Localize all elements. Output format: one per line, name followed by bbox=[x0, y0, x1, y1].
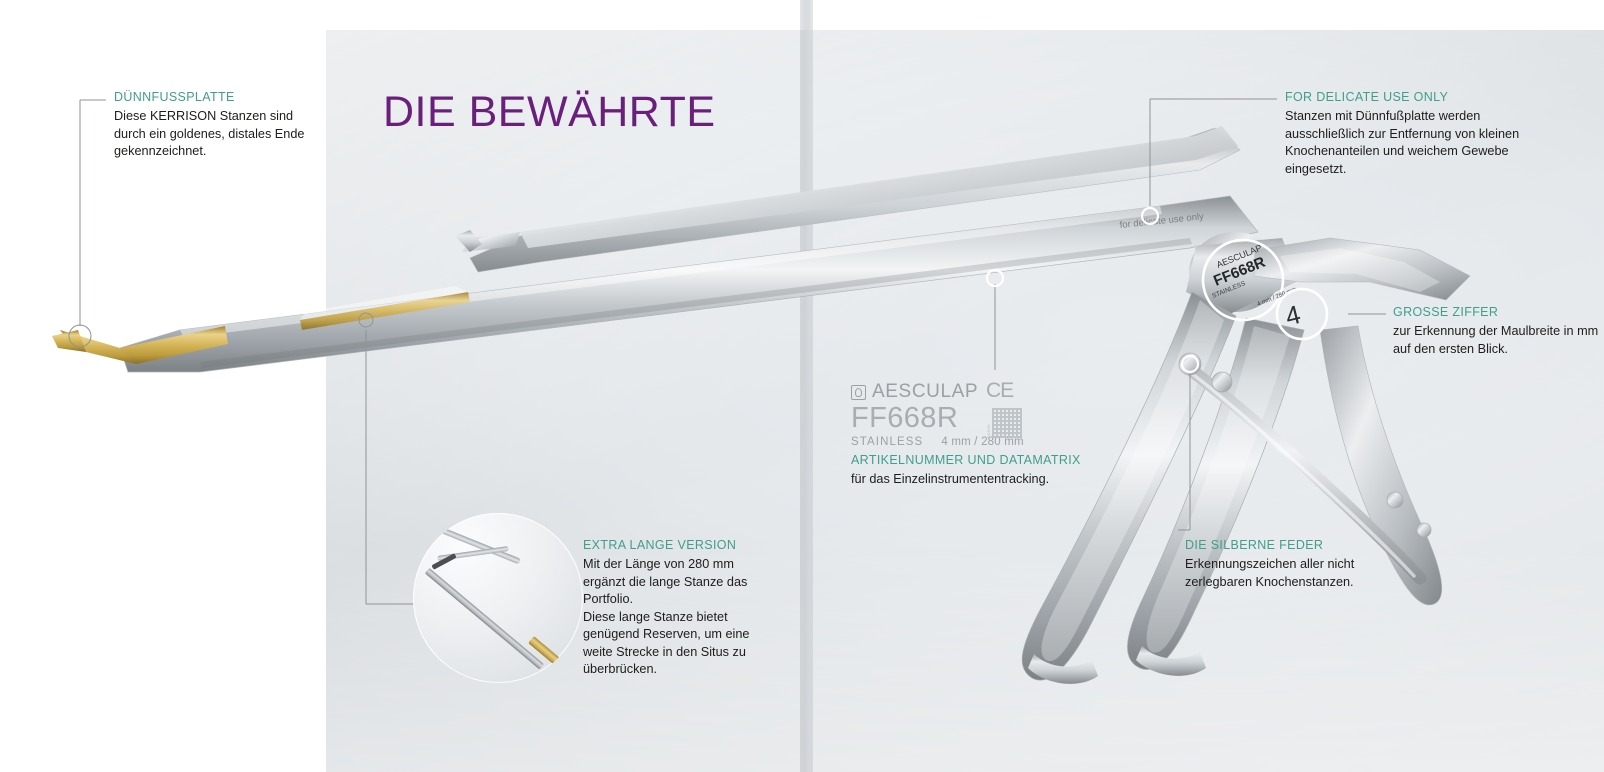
callout-artikelnummer-datamatrix: ARTIKELNUMMER UND DATAMATRIX für das Ein… bbox=[851, 453, 1081, 489]
callout-body: Erkennungszeichen aller nicht zerlegbare… bbox=[1185, 556, 1385, 591]
callout-die-silberne-feder: DIE SILBERNE FEDER Erkennungszeichen all… bbox=[1185, 538, 1385, 591]
callout-body: für das Einzelinstrumententracking. bbox=[851, 471, 1081, 489]
ce-mark: CE bbox=[986, 380, 1013, 402]
callout-title: EXTRA LANGE VERSION bbox=[583, 538, 758, 553]
page-title: DIE BEWÄHRTE bbox=[383, 88, 716, 137]
callout-extra-lange-version: EXTRA LANGE VERSION Mit der Länge von 28… bbox=[583, 538, 758, 679]
inset-product-photo bbox=[413, 513, 583, 683]
datamatrix-code: 90030 bbox=[986, 408, 1022, 438]
callout-title: FOR DELICATE USE ONLY bbox=[1285, 90, 1520, 105]
callout-title: DIE SILBERNE FEDER bbox=[1185, 538, 1385, 553]
product-label: AESCULAP FF668R STAINLESS 4 mm / 280 mm … bbox=[851, 382, 1026, 448]
aesculap-logo-icon bbox=[851, 385, 866, 400]
callout-body: Stanzen mit Dünnfußplatte werden ausschl… bbox=[1285, 108, 1520, 178]
callout-body: Diese KERRISON Stanzen sind durch ein go… bbox=[114, 108, 314, 161]
callout-body: zur Erkennung der Maulbreite in mm auf d… bbox=[1393, 323, 1604, 358]
datamatrix-squares bbox=[992, 408, 1022, 438]
callout-grosse-ziffer: GROSSE ZIFFER zur Erkennung der Maulbrei… bbox=[1393, 305, 1604, 358]
inset-shaft bbox=[425, 568, 544, 670]
callout-body: Mit der Länge von 280 mm ergänzt die lan… bbox=[583, 556, 758, 679]
callout-title: DÜNNFUSSPLATTE bbox=[114, 90, 314, 105]
page-gutter-divider bbox=[800, 0, 813, 772]
brand-name: AESCULAP bbox=[872, 382, 978, 402]
callout-for-delicate-use-only: FOR DELICATE USE ONLY Stanzen mit Dünnfu… bbox=[1285, 90, 1520, 178]
material-text: STAINLESS bbox=[851, 436, 923, 448]
callout-title: GROSSE ZIFFER bbox=[1393, 305, 1604, 320]
datamatrix-side-text: 90030 bbox=[986, 424, 991, 438]
callout-duennfussplatte: DÜNNFUSSPLATTE Diese KERRISON Stanzen si… bbox=[114, 90, 314, 161]
brochure-page: for delicate use only AESCULAP FF668R ST… bbox=[0, 0, 1604, 772]
callout-title: ARTIKELNUMMER UND DATAMATRIX bbox=[851, 453, 1081, 468]
